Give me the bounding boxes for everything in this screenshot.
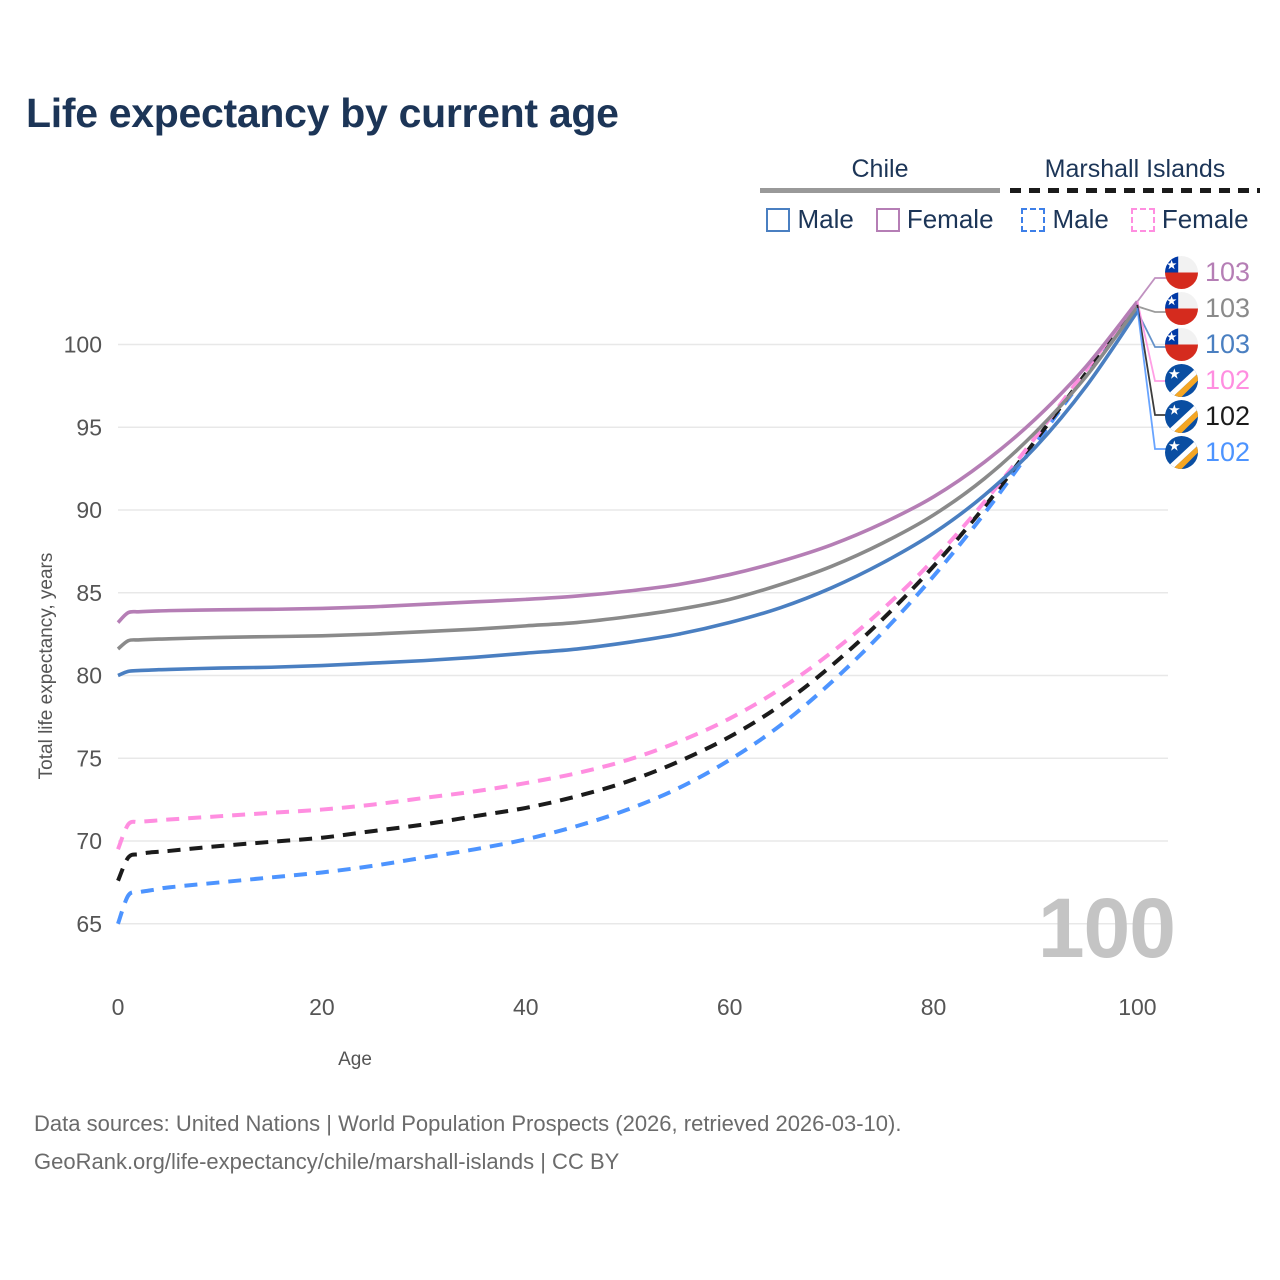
series-end-labels: 103103103102102102 [1165,255,1250,471]
series-leader-line [1137,278,1166,302]
series-line-marshall-islands-female [118,301,1137,849]
series-line-chile-male [118,311,1137,675]
end-label-value: 103 [1205,257,1250,288]
y-axis-tick-label: 85 [76,580,102,606]
chile-flag-icon [1165,292,1198,325]
series-line-chile-female [118,301,1137,622]
x-axis-tick-label: 80 [921,994,947,1020]
end-label-row: 102 [1165,435,1250,469]
end-label-value: 102 [1205,401,1250,432]
y-axis-tick-label: 90 [76,497,102,523]
y-axis-tick-label: 65 [76,911,102,937]
x-axis-tick-label: 0 [112,994,125,1020]
end-label-value: 103 [1205,329,1250,360]
chile-flag-icon [1165,328,1198,361]
end-label-value: 102 [1205,437,1250,468]
end-label-row: 103 [1165,327,1250,361]
end-label-value: 102 [1205,365,1250,396]
x-axis-tick-label: 60 [717,994,743,1020]
y-axis-tick-label: 100 [64,332,102,358]
footer-data-sources: Data sources: United Nations | World Pop… [34,1105,901,1143]
end-label-row: 102 [1165,399,1250,433]
x-axis-title: Age [338,1049,372,1070]
x-axis-tick-label: 20 [309,994,335,1020]
end-label-row: 102 [1165,363,1250,397]
chart-plot-area: 65707580859095100020406080100AgeTotal li… [0,0,1280,1280]
marshall-islands-flag-icon [1165,436,1198,469]
footer-attribution: GeoRank.org/life-expectancy/chile/marsha… [34,1143,901,1181]
y-axis-title: Total life expectancy, years [36,553,57,780]
marshall-islands-flag-icon [1165,400,1198,433]
chart-watermark: 100 [1038,880,1175,977]
y-axis-tick-label: 80 [76,663,102,689]
chile-flag-icon [1165,256,1198,289]
marshall-islands-flag-icon [1165,364,1198,397]
x-axis-tick-label: 40 [513,994,539,1020]
x-axis-tick-label: 100 [1118,994,1156,1020]
y-axis-tick-label: 70 [76,828,102,854]
end-label-value: 103 [1205,293,1250,324]
y-axis-tick-label: 75 [76,745,102,771]
footer: Data sources: United Nations | World Pop… [34,1105,901,1181]
chart-svg: 65707580859095100020406080100AgeTotal li… [0,0,1280,1280]
series-line-chile-both-sexes [118,306,1137,649]
series-leader-line [1137,306,1166,312]
end-label-row: 103 [1165,255,1250,289]
end-label-row: 103 [1165,291,1250,325]
y-axis-tick-label: 95 [76,414,102,440]
